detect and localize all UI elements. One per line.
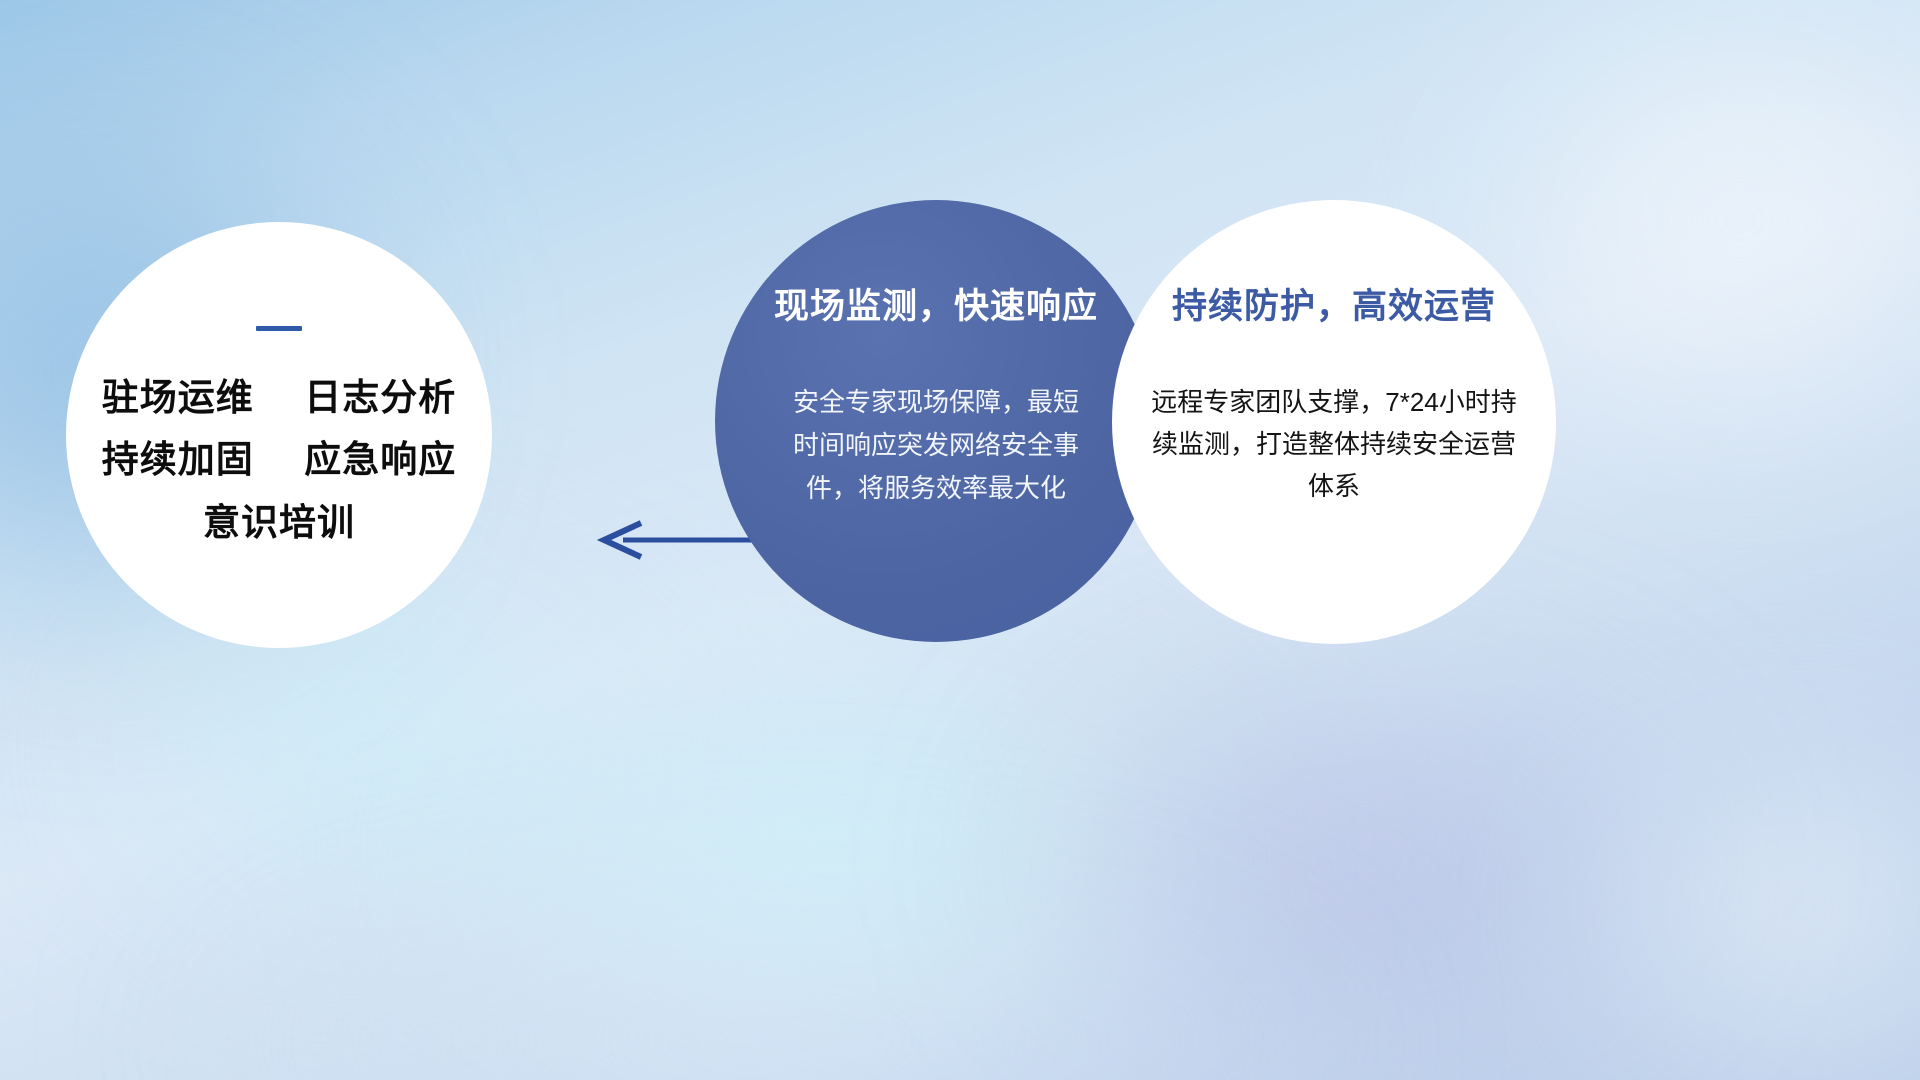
service-tag: 持续加固 — [102, 439, 254, 480]
right-circle-body: 远程专家团队支撑，7*24小时持续监测，打造整体持续安全运营体系 — [1151, 381, 1517, 507]
right-circle-title: 持续防护，高效运营 — [1172, 278, 1496, 329]
service-tag: 驻场运维 — [102, 377, 254, 418]
middle-circle-body: 安全专家现场保障，最短时间响应突发网络安全事件，将服务效率最大化 — [786, 381, 1086, 510]
list-item: 持续加固 应急响应 — [102, 439, 457, 482]
left-circle-text-group: 驻场运维 日志分析 持续加固 应急响应 意识培训 — [102, 377, 457, 545]
diagram-stage: 驻场运维 日志分析 持续加固 应急响应 意识培训 现场监测，快速响应 安全专家现… — [0, 0, 1920, 1080]
divider-dash — [256, 326, 302, 331]
service-tag: 日志分析 — [304, 377, 456, 418]
service-tag: 应急响应 — [304, 439, 456, 480]
right-feature-circle: 持续防护，高效运营 远程专家团队支撑，7*24小时持续监测，打造整体持续安全运营… — [1112, 200, 1556, 644]
left-service-circle: 驻场运维 日志分析 持续加固 应急响应 意识培训 — [66, 222, 492, 648]
list-item: 意识培训 — [203, 502, 355, 545]
list-item: 驻场运维 日志分析 — [102, 377, 457, 420]
middle-circle-title: 现场监测，快速响应 — [774, 278, 1098, 329]
middle-feature-circle: 现场监测，快速响应 安全专家现场保障，最短时间响应突发网络安全事件，将服务效率最… — [715, 200, 1157, 642]
service-tag: 意识培训 — [203, 502, 355, 543]
